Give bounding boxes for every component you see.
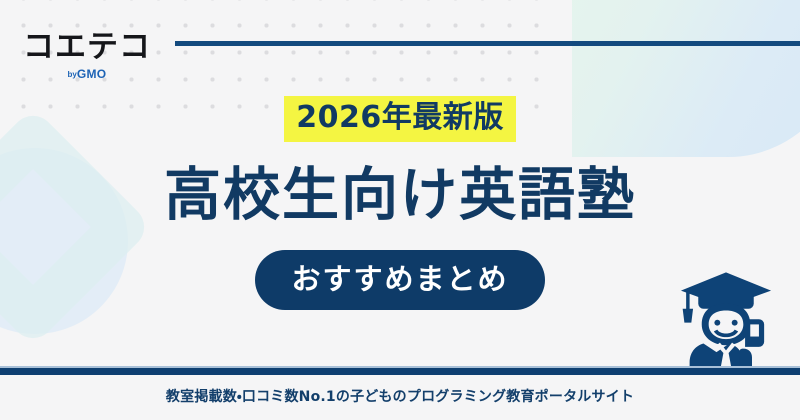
brand-logo-text: コエテコ [22, 32, 152, 63]
graduate-student-icon [674, 262, 778, 366]
year-badge: 2026年最新版 [284, 96, 516, 142]
top-rule [175, 41, 800, 46]
brand-logo: コエテコ byGMO [22, 32, 152, 80]
promo-banner: コエテコ byGMO 2026年最新版 高校生向け英語塾 おすすめまとめ [0, 0, 800, 420]
year-badge-wrap: 2026年最新版 [0, 96, 800, 142]
footer-rule [0, 368, 800, 375]
brand-logo-by-gmo: byGMO [22, 68, 152, 80]
brand-logo-by: by [68, 70, 77, 79]
footer-tagline: 教室掲載数・口コミ数No.1の子どものプログラミング教育ポータルサイト [0, 386, 800, 406]
headline: 高校生向け英語塾 [0, 164, 800, 227]
recommendation-pill[interactable]: おすすめまとめ [255, 250, 544, 310]
brand-logo-gmo: GMO [77, 67, 107, 81]
